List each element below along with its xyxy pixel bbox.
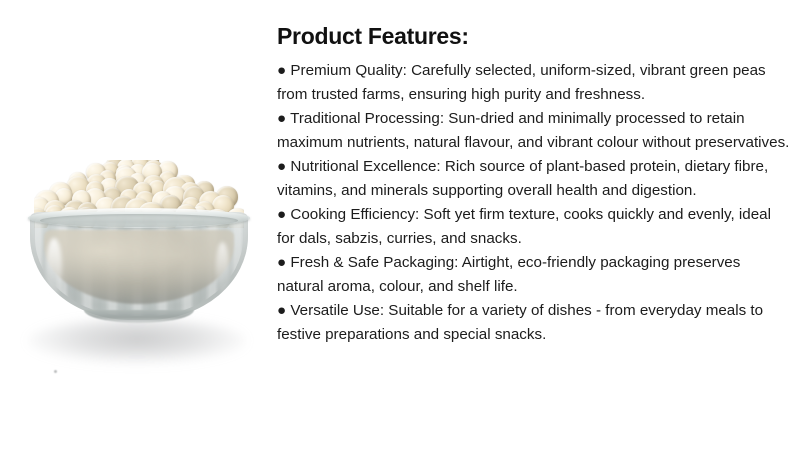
feature-text: ● Versatile Use: Suitable for a variety … <box>277 302 763 343</box>
product-image-pane <box>0 0 270 450</box>
feature-text: ● Premium Quality: Carefully selected, u… <box>277 62 766 103</box>
feature-item-cooking-efficiency: ● Cooking Efficiency: Soft yet firm text… <box>277 203 790 251</box>
product-features-page: Product Features: ● Premium Quality: Car… <box>0 0 800 450</box>
page-title: Product Features: <box>277 22 790 50</box>
feature-item-fresh-safe-packaging: ● Fresh & Safe Packaging: Airtight, eco-… <box>277 251 790 299</box>
feature-item-traditional-processing: ● Traditional Processing: Sun-dried and … <box>277 107 790 155</box>
bowl-highlight-left <box>46 238 62 296</box>
feature-text: ● Traditional Processing: Sun-dried and … <box>277 110 789 151</box>
surface-speck <box>54 370 57 373</box>
glass-bowl <box>30 212 248 324</box>
feature-item-nutritional-excellence: ● Nutritional Excellence: Rich source of… <box>277 155 790 203</box>
feature-item-premium-quality: ● Premium Quality: Carefully selected, u… <box>277 59 790 107</box>
feature-text: ● Cooking Efficiency: Soft yet firm text… <box>277 206 771 247</box>
bowl-rim-inner <box>40 214 238 227</box>
bowl-foot <box>84 310 194 323</box>
feature-text: ● Nutritional Excellence: Rich source of… <box>277 158 768 199</box>
feature-item-versatile-use: ● Versatile Use: Suitable for a variety … <box>277 299 790 347</box>
product-photo <box>0 0 270 450</box>
feature-text: ● Fresh & Safe Packaging: Airtight, eco-… <box>277 254 740 295</box>
bowl-drop-shadow <box>28 318 246 364</box>
features-pane: Product Features: ● Premium Quality: Car… <box>270 0 800 450</box>
features-list: ● Premium Quality: Carefully selected, u… <box>277 59 790 347</box>
bowl-highlight-right <box>216 242 229 292</box>
